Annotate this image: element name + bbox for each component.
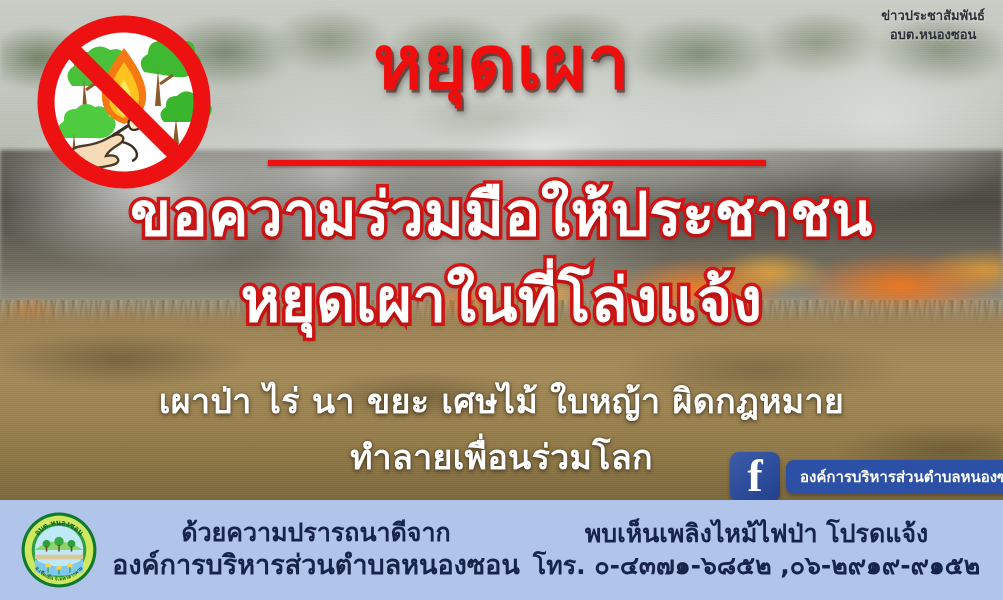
facebook-icon[interactable] (730, 452, 780, 502)
municipality-seal-logo: อบต.หนองซอน อ.เชียงยืน จ.มหาสารคาม (20, 511, 98, 589)
footer-phone-number: โทร. ๐-๔๓๗๑-๖๘๕๒ ,๐๖-๒๙๑๙-๙๑๕๒ (520, 550, 993, 583)
footer-bar: อบต.หนองซอน อ.เชียงยืน จ.มหาสารคาม ด้วยค… (0, 500, 1003, 600)
poster: ข่าวประชาสัมพันธ์ อบต.หนองซอน หยุดเผา ขอ… (0, 0, 1003, 600)
message-line-2: หยุดเผาในที่โล่งแจ้ง (0, 268, 1003, 335)
submessage-line-1: เผาป่า ไร่ นา ขยะ เศษไม้ ใบหญ้า ผิดกฎหมา… (0, 382, 1003, 423)
footer-left-line2: องค์การบริหารส่วนตำบลหนองซอน (112, 549, 520, 584)
footer-right-line1: พบเห็นเพลิงไหม้ไฟป่า โปรดแจ้ง (520, 518, 993, 551)
corner-note-line1: ข่าวประชาสัมพันธ์ (881, 9, 985, 24)
message-line-1: ขอความร่วมมือให้ประชาชน (0, 182, 1003, 249)
footer-left-group: อบต.หนองซอน อ.เชียงยืน จ.มหาสารคาม ด้วยค… (0, 511, 520, 589)
footer-left-line1: ด้วยความปรารถนาดีจาก (112, 517, 520, 549)
footer-right-text: พบเห็นเพลิงไหม้ไฟป่า โปรดแจ้ง โทร. ๐-๔๓๗… (520, 518, 1003, 583)
facebook-badge[interactable]: องค์การบริหารส่วนตำบลหนองซอน (730, 452, 1003, 502)
facebook-page-name[interactable]: องค์การบริหารส่วนตำบลหนองซอน (786, 460, 1003, 494)
headline-stop-burning: หยุดเผา (0, 24, 1003, 104)
red-divider-rule (268, 160, 766, 166)
footer-left-text: ด้วยความปรารถนาดีจาก องค์การบริหารส่วนตำ… (112, 517, 520, 584)
